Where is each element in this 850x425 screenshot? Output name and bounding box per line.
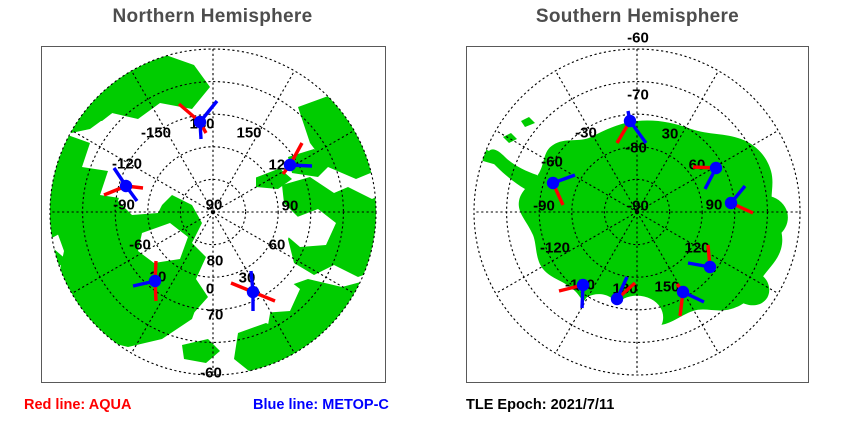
grid-label: 60 [689, 158, 706, 173]
grid-label: -60 [627, 31, 649, 46]
grid-label: 90 [206, 198, 223, 213]
grid-label: -60 [129, 238, 151, 253]
grid-label: 120 [684, 241, 709, 256]
grid-label: -120 [112, 157, 142, 172]
grid-label: 30 [150, 270, 167, 285]
grid-label: 90 [706, 198, 723, 213]
grid-label: -80 [625, 141, 647, 156]
panel-northern-hemisphere: Northern Hemisphere [0, 0, 425, 425]
grid-label: -150 [565, 278, 595, 293]
grid-label: -60 [541, 155, 563, 170]
grid-label: 90 [282, 199, 299, 214]
grid-label: 180 [612, 282, 637, 297]
grid-label: 30 [239, 271, 256, 286]
grid-label: 180 [189, 117, 214, 132]
legend-tle-epoch: TLE Epoch: 2021/7/11 [466, 398, 614, 413]
panel-title-north: Northern Hemisphere [0, 6, 425, 28]
legend-metop-c: Blue line: METOP-C [253, 398, 389, 413]
grid-label: 80 [207, 254, 224, 269]
grid-label: 150 [654, 280, 679, 295]
panel-title-south: Southern Hemisphere [425, 6, 850, 28]
legend-aqua: Red line: AQUA [24, 398, 131, 413]
grid-label: 120 [268, 158, 293, 173]
grid-label: -120 [540, 241, 570, 256]
grid-label: 0 [206, 282, 214, 297]
grid-label: 60 [269, 238, 286, 253]
grid-label: -70 [627, 88, 649, 103]
grid-label: -150 [141, 126, 171, 141]
grid-label: 30 [662, 127, 679, 142]
polar-plot-north [41, 46, 386, 383]
grid-label: -60 [200, 366, 222, 381]
grid-label: 70 [207, 308, 224, 323]
panel-southern-hemisphere: Southern Hemisphere [425, 0, 850, 425]
grid-label: -90 [627, 199, 649, 214]
grid-label: -30 [575, 126, 597, 141]
figure-canvas: Northern Hemisphere [0, 0, 850, 425]
grid-label: 150 [236, 126, 261, 141]
grid-label: -90 [113, 198, 135, 213]
north-map-svg [42, 47, 385, 382]
grid-label: -90 [533, 199, 555, 214]
